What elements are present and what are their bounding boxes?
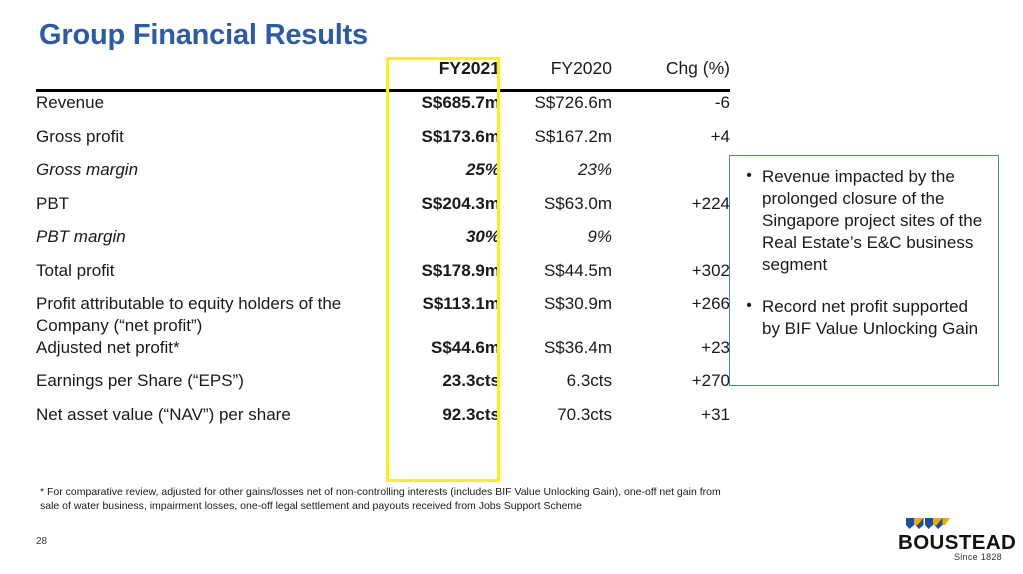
cell-chg: +23 [612, 337, 730, 371]
bullet-icon: • [736, 166, 762, 187]
cell-fy2021: 30% [386, 226, 500, 260]
cell-fy2020: S$63.0m [500, 193, 612, 227]
cell-fy2021: S$685.7m [386, 92, 500, 126]
table-row: Gross profitS$173.6mS$167.2m+4 [36, 126, 730, 160]
boustead-tagline: Since 1828 [898, 552, 1002, 562]
cell-label: Earnings per Share (“EPS”) [36, 370, 386, 404]
table-row: Net asset value (“NAV”) per share92.3cts… [36, 404, 730, 438]
cell-fy2021: 25% [386, 159, 500, 193]
cell-label: Revenue [36, 92, 386, 126]
cell-fy2021: S$44.6m [386, 337, 500, 371]
cell-label: Adjusted net profit* [36, 337, 386, 371]
column-header-fy2021: FY2021 [386, 57, 500, 92]
cell-fy2020: S$167.2m [500, 126, 612, 160]
cell-chg: +4 [612, 126, 730, 160]
column-header-fy2020: FY2020 [500, 57, 612, 92]
cell-chg: -6 [612, 92, 730, 126]
table-row: Total profitS$178.9mS$44.5m+302 [36, 260, 730, 294]
cell-chg: +31 [612, 404, 730, 438]
cell-chg: +302 [612, 260, 730, 294]
cell-chg [612, 226, 730, 260]
table-row: Earnings per Share (“EPS”)23.3cts6.3cts+… [36, 370, 730, 404]
commentary-callout: •Revenue impacted by the prolonged closu… [729, 155, 999, 386]
cell-label: Total profit [36, 260, 386, 294]
footnote-text: * For comparative review, adjusted for o… [40, 486, 740, 514]
commentary-item-text: Record net profit supported by BIF Value… [762, 296, 988, 340]
commentary-item: •Record net profit supported by BIF Valu… [736, 296, 988, 340]
bullet-icon: • [736, 296, 762, 317]
column-header-label [36, 57, 386, 92]
table-header-row: FY2021 FY2020 Chg (%) [36, 57, 730, 92]
commentary-list: •Revenue impacted by the prolonged closu… [736, 166, 988, 339]
cell-chg: +266 [612, 293, 730, 337]
column-header-change: Chg (%) [612, 57, 730, 92]
cell-chg [612, 159, 730, 193]
table-row: PBT margin30%9% [36, 226, 730, 260]
cell-fy2020: S$30.9m [500, 293, 612, 337]
table-row: Gross margin25%23% [36, 159, 730, 193]
page-title: Group Financial Results [39, 19, 368, 52]
cell-fy2021: S$178.9m [386, 260, 500, 294]
cell-label: Net asset value (“NAV”) per share [36, 404, 386, 438]
cell-fy2020: 23% [500, 159, 612, 193]
cell-label: PBT margin [36, 226, 386, 260]
cell-fy2021: S$113.1m [386, 293, 500, 337]
cell-fy2021: 92.3cts [386, 404, 500, 438]
cell-label: PBT [36, 193, 386, 227]
cell-fy2020: S$36.4m [500, 337, 612, 371]
table-row: RevenueS$685.7mS$726.6m-6 [36, 92, 730, 126]
boustead-logo: BOUSTEAD Since 1828 [898, 514, 1008, 562]
cell-fy2021: 23.3cts [386, 370, 500, 404]
boustead-emblem-icon [905, 517, 951, 530]
commentary-item-text: Revenue impacted by the prolonged closur… [762, 166, 988, 276]
cell-fy2020: S$726.6m [500, 92, 612, 126]
cell-label: Gross margin [36, 159, 386, 193]
cell-fy2020: 6.3cts [500, 370, 612, 404]
cell-fy2021: S$204.3m [386, 193, 500, 227]
cell-label: Profit attributable to equity holders of… [36, 293, 386, 337]
table-body: RevenueS$685.7mS$726.6m-6Gross profitS$1… [36, 92, 730, 437]
cell-fy2020: 9% [500, 226, 612, 260]
cell-fy2020: S$44.5m [500, 260, 612, 294]
slide-canvas: Group Financial Results FY2021 FY2020 Ch… [0, 0, 1023, 574]
page-number: 28 [36, 536, 47, 547]
table-row: Profit attributable to equity holders of… [36, 293, 730, 337]
cell-label: Gross profit [36, 126, 386, 160]
cell-chg: +270 [612, 370, 730, 404]
table-row: PBTS$204.3mS$63.0m+224 [36, 193, 730, 227]
table-row: Adjusted net profit*S$44.6mS$36.4m+23 [36, 337, 730, 371]
cell-fy2020: 70.3cts [500, 404, 612, 438]
financial-results-table: FY2021 FY2020 Chg (%) RevenueS$685.7mS$7… [36, 57, 730, 437]
commentary-item: •Revenue impacted by the prolonged closu… [736, 166, 988, 276]
table-header: FY2021 FY2020 Chg (%) [36, 57, 730, 92]
cell-fy2021: S$173.6m [386, 126, 500, 160]
cell-chg: +224 [612, 193, 730, 227]
